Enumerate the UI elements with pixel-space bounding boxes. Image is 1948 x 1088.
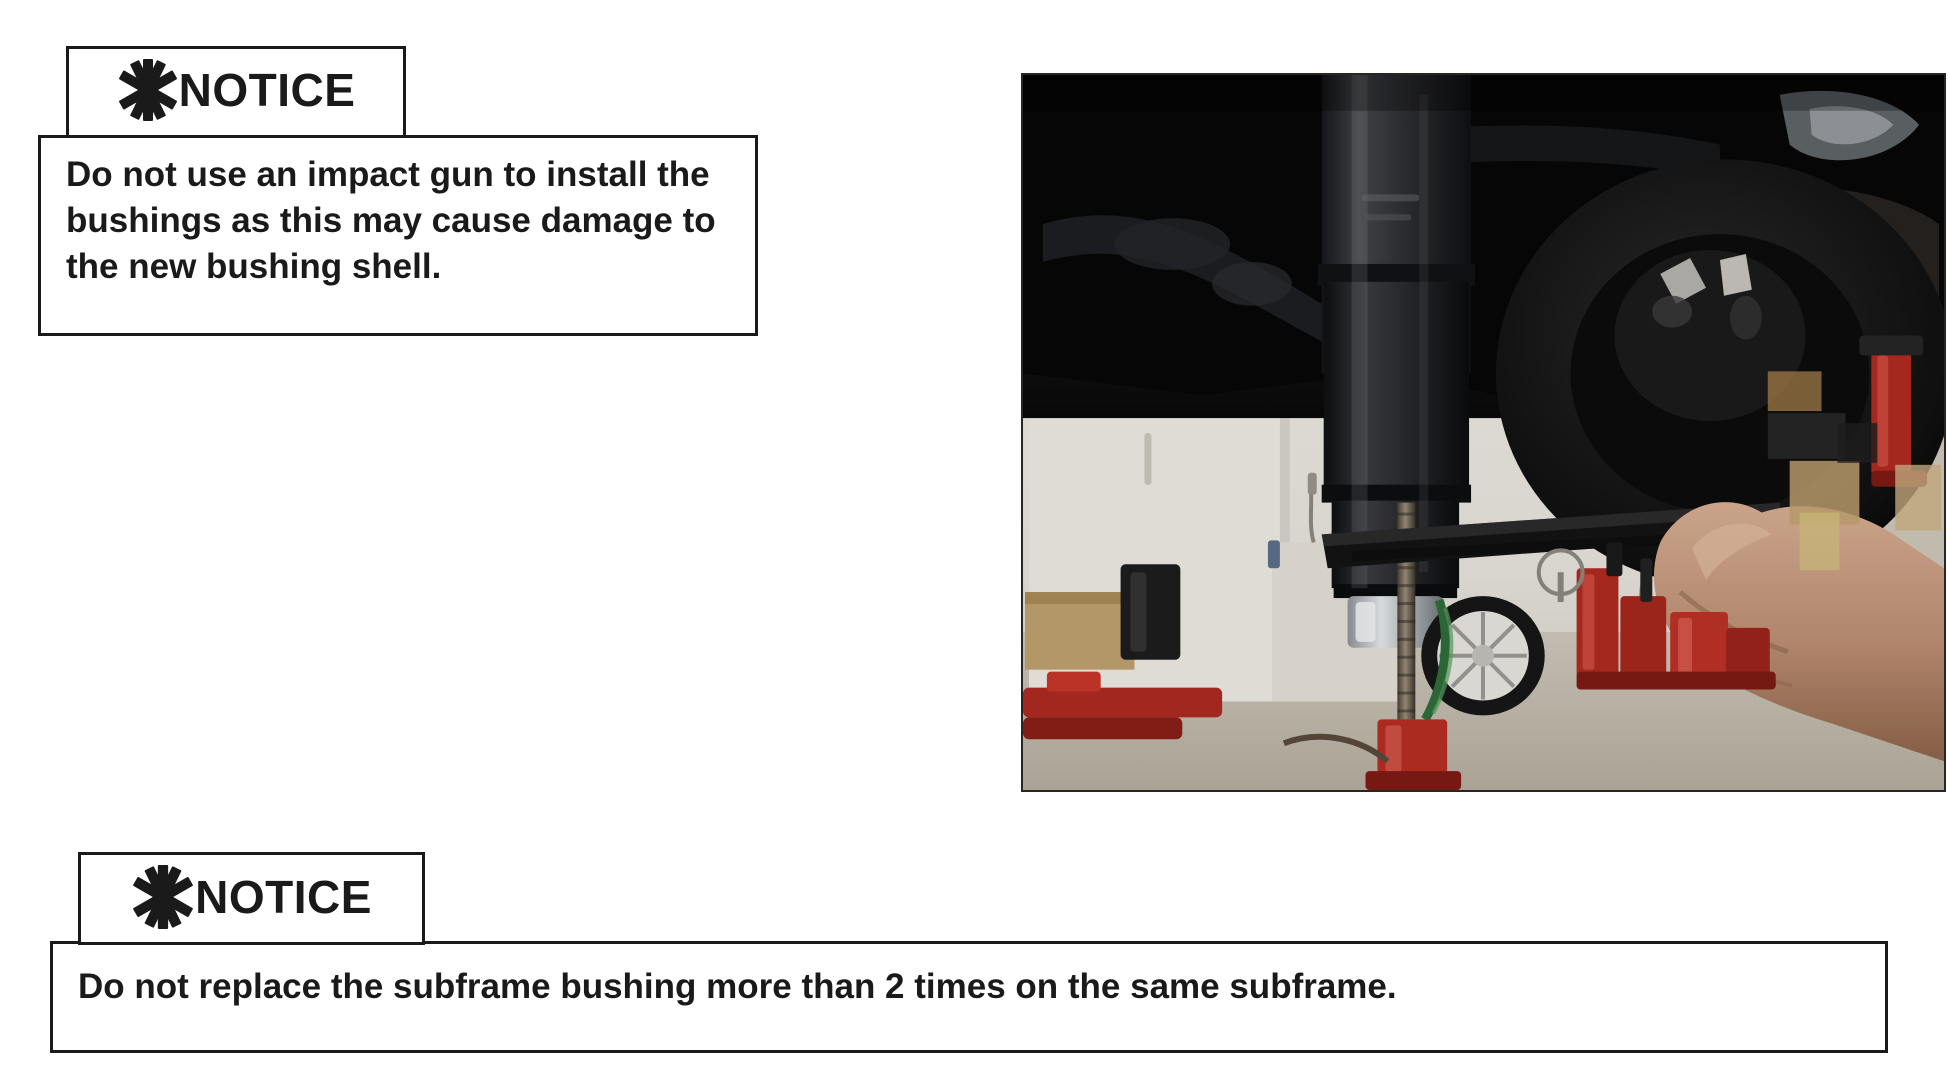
- notice-panel-replace-limit: NOTICE Do not replace the subframe bushi…: [50, 852, 1895, 1052]
- notice-body-text: Do not replace the subframe bushing more…: [78, 964, 1878, 1010]
- photo-illustration: [1023, 75, 1944, 790]
- notice-panel-impact-gun: NOTICE Do not use an impact gun to insta…: [38, 46, 938, 356]
- notice-header-label: NOTICE: [195, 874, 372, 920]
- notice-header-badge: NOTICE: [78, 852, 425, 945]
- notice-body-text: Do not use an impact gun to install the …: [66, 152, 756, 290]
- asterisk-icon: [117, 57, 179, 123]
- subframe-bushing-install-photo: [1021, 73, 1946, 792]
- notice-header-badge: NOTICE: [66, 46, 406, 138]
- notice-header-label: NOTICE: [179, 67, 356, 113]
- asterisk-icon: [131, 863, 195, 931]
